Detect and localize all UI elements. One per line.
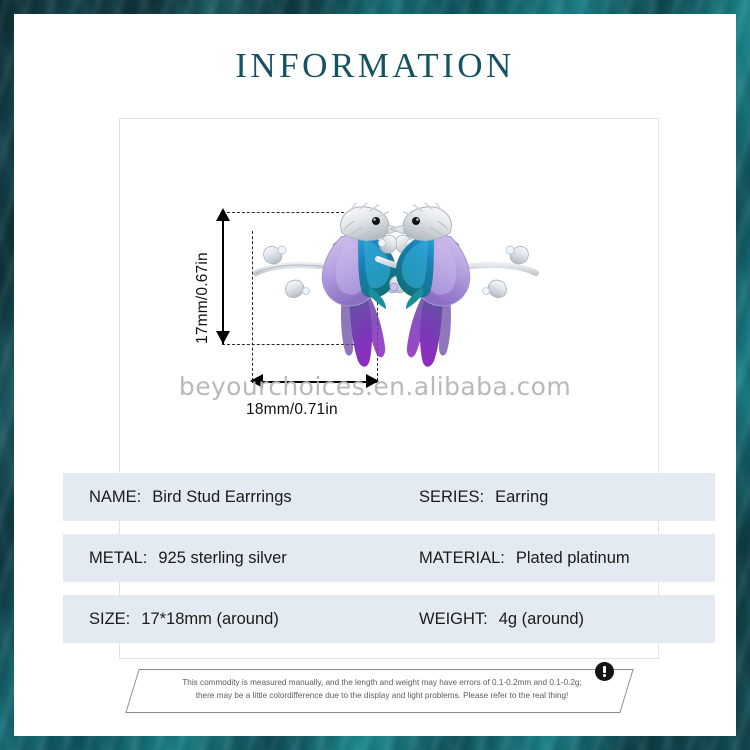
disclaimer-line-1: This commodity is measured manually, and…	[162, 677, 602, 690]
spec-key-metal: METAL:	[89, 549, 147, 568]
spec-value-metal: 925 sterling silver	[158, 549, 286, 568]
table-row: METAL: 925 sterling silver MATERIAL: Pla…	[63, 534, 715, 582]
spec-cell-size: SIZE: 17*18mm (around)	[63, 610, 415, 629]
dimension-label-vertical: 17mm/0.67in	[194, 252, 212, 344]
watermark: beyourchoices.en.alibaba.com	[14, 372, 736, 401]
spec-cell-weight: WEIGHT: 4g (around)	[415, 610, 715, 629]
spec-cell-series: SERIES: Earring	[415, 488, 715, 507]
table-row: NAME: Bird Stud Earrrings SERIES: Earrin…	[63, 473, 715, 521]
spec-value-weight: 4g (around)	[499, 610, 584, 629]
spec-value-name: Bird Stud Earrrings	[152, 488, 291, 507]
spec-table: NAME: Bird Stud Earrrings SERIES: Earrin…	[63, 473, 715, 656]
disclaimer-text: This commodity is measured manually, and…	[162, 677, 602, 702]
spec-key-series: SERIES:	[419, 488, 484, 507]
exclamation-icon	[595, 662, 614, 681]
dimension-label-horizontal: 18mm/0.71in	[246, 401, 338, 419]
spec-value-size: 17*18mm (around)	[141, 610, 279, 629]
spec-key-material: MATERIAL:	[419, 549, 505, 568]
arrow-down-icon	[216, 331, 230, 344]
spec-key-name: NAME:	[89, 488, 141, 507]
disclaimer-line-2: there may be a little colordifference du…	[162, 690, 602, 703]
bird-earrings-illustration	[246, 203, 546, 378]
white-canvas: INFORMATION	[14, 14, 736, 736]
spec-cell-name: NAME: Bird Stud Earrrings	[63, 488, 415, 507]
exclamation-bar	[603, 666, 606, 673]
disclaimer-footer: This commodity is measured manually, and…	[132, 669, 627, 717]
spec-value-series: Earring	[495, 488, 548, 507]
spec-cell-metal: METAL: 925 sterling silver	[63, 549, 415, 568]
exclamation-dot	[603, 674, 606, 677]
table-row: SIZE: 17*18mm (around) WEIGHT: 4g (aroun…	[63, 595, 715, 643]
spec-value-material: Plated platinum	[516, 549, 630, 568]
spec-cell-material: MATERIAL: Plated platinum	[415, 549, 715, 568]
spec-key-weight: WEIGHT:	[419, 610, 488, 629]
page-title: INFORMATION	[14, 46, 736, 86]
product-information-page: INFORMATION	[0, 0, 750, 750]
spec-key-size: SIZE:	[89, 610, 130, 629]
vertical-measure-line	[222, 212, 224, 344]
arrow-up-icon	[216, 208, 230, 221]
